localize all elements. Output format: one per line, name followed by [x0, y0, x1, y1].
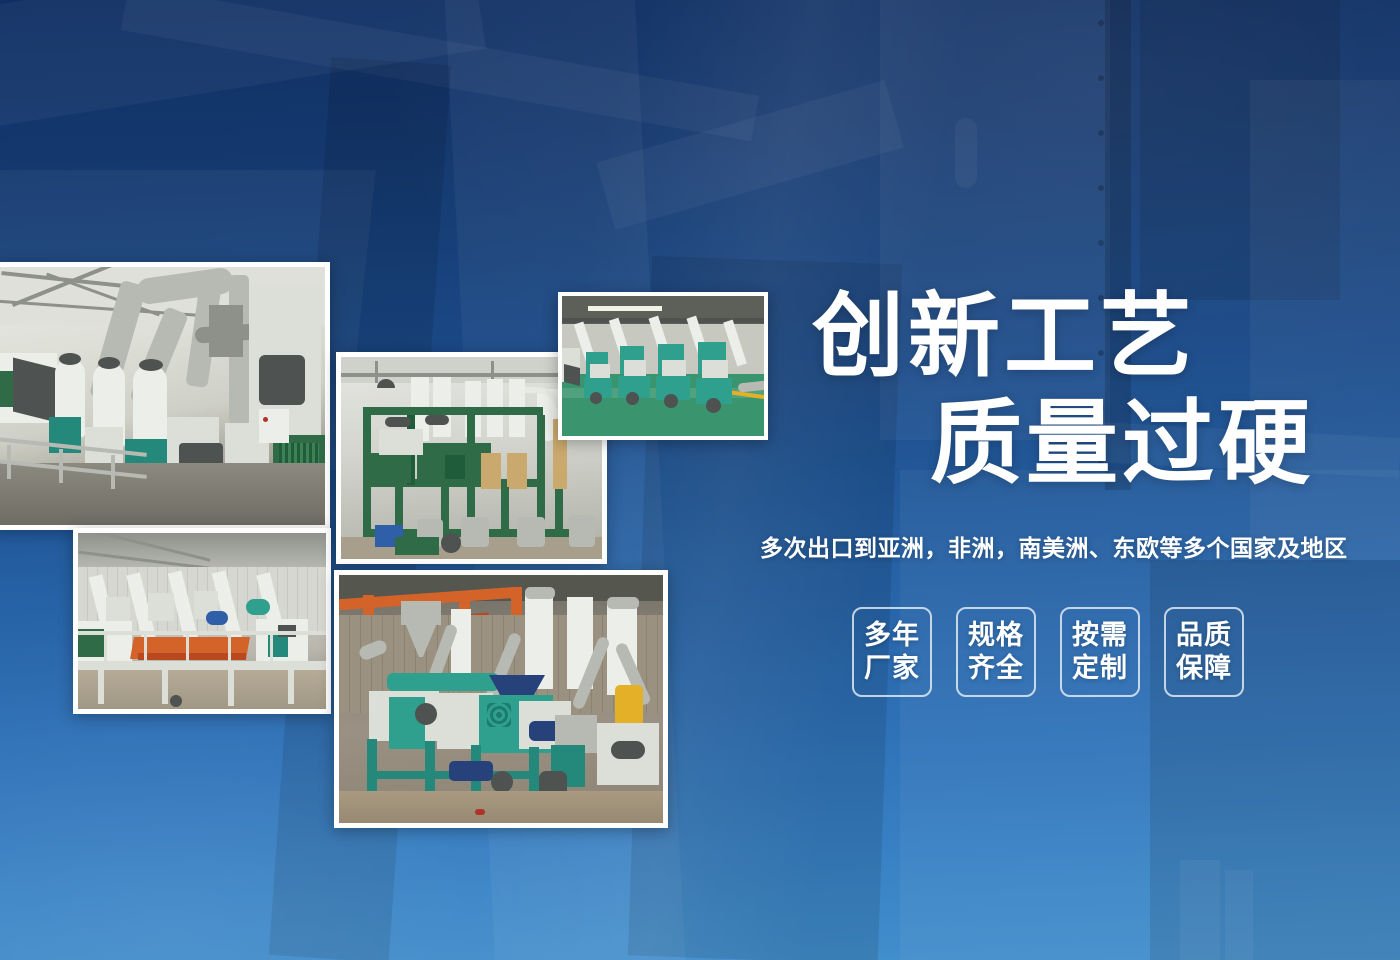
badge-quality-guarantee: 品质 保障	[1164, 607, 1244, 697]
badge-line-1: 按需	[1072, 619, 1128, 652]
page-title: 创新工艺 质量过硬	[760, 288, 1390, 495]
badge-many-years-manufacturer: 多年 厂家	[852, 607, 932, 697]
badge-line-1: 品质	[1176, 619, 1232, 652]
photo-platform-production	[73, 528, 331, 714]
feature-badge-list: 多年 厂家 规格 齐全 按需 定制 品质 保障	[760, 607, 1390, 697]
badge-full-specifications: 规格 齐全	[956, 607, 1036, 697]
badge-line-2: 保障	[1176, 652, 1232, 685]
photo-teal-mill-row	[558, 292, 768, 440]
promo-banner: 创新工艺 质量过硬 多次出口到亚洲，非洲，南美洲、东欧等多个国家及地区 多年 厂…	[0, 0, 1400, 960]
photo-grain-mill-line	[0, 262, 330, 530]
badge-line-1: 规格	[968, 619, 1024, 652]
badge-line-2: 齐全	[968, 652, 1024, 685]
headline-line-2: 质量过硬	[760, 395, 1390, 494]
headline-line-1: 创新工艺	[760, 288, 1390, 387]
badge-line-2: 定制	[1072, 652, 1128, 685]
subtitle: 多次出口到亚洲，非洲，南美洲、东欧等多个国家及地区	[760, 529, 1390, 563]
badge-line-1: 多年	[864, 619, 920, 652]
badge-custom-on-demand: 按需 定制	[1060, 607, 1140, 697]
photo-teal-machines-workshop	[334, 570, 668, 828]
badge-line-2: 厂家	[864, 652, 920, 685]
headline-block: 创新工艺 质量过硬 多次出口到亚洲，非洲，南美洲、东欧等多个国家及地区 多年 厂…	[760, 288, 1390, 697]
